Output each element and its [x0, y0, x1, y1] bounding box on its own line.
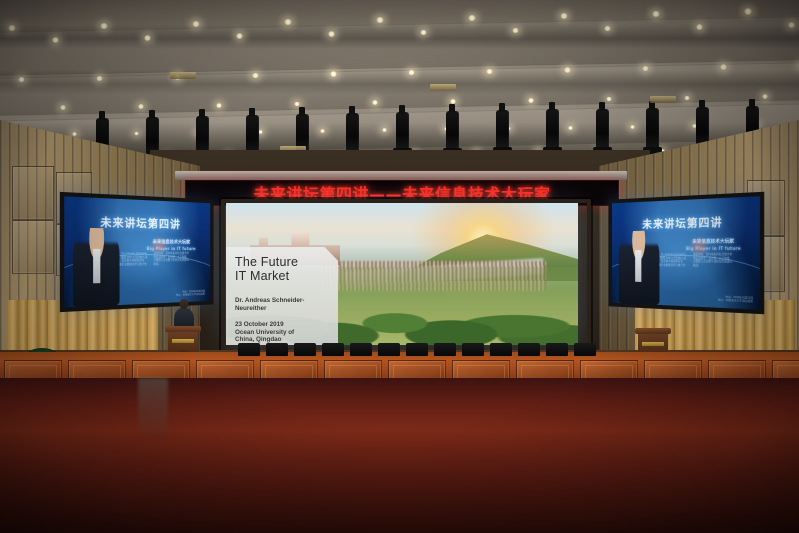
podium-right-top-surface — [635, 328, 671, 334]
ceiling-spotlight — [596, 109, 609, 153]
main-projection-screen: The Future IT Market Dr. Andreas Schneid… — [226, 203, 578, 345]
audience-seating-area — [0, 378, 799, 533]
stage-monitor — [434, 343, 456, 356]
ceiling-downlight — [144, 35, 151, 41]
ceiling-downlight — [236, 33, 243, 39]
poster-speaker-portrait-right — [618, 230, 659, 305]
podium-right-nameplate — [642, 342, 664, 346]
ceiling-truss-fixture — [430, 84, 456, 91]
stage-monitor — [406, 343, 428, 356]
ceiling-downlight — [696, 24, 703, 30]
ceiling-downlight — [320, 129, 325, 133]
stage-monitor — [378, 343, 400, 356]
ceiling-downlight — [376, 17, 384, 23]
ceiling-downlight — [630, 125, 635, 129]
side-screen-right: 未来讲坛第四讲 未来信息技术大玩家 Big Player in IT futur… — [609, 192, 765, 315]
stage-monitor — [574, 343, 596, 356]
slide-title: The Future IT Market — [235, 255, 331, 283]
ceiling-spotlight — [546, 109, 559, 153]
poster-body-right-column-right-screen: 讲座内容：面向未来的信息技术市场发展趋势，云计算、人工智能、大数据与企业数字化转… — [693, 253, 734, 269]
poster-speaker-portrait-left — [72, 228, 119, 308]
slide-title-line-1: The Future — [235, 255, 331, 269]
stage-monitor — [322, 343, 344, 356]
ceiling-downlight — [252, 73, 259, 79]
ceiling-downlight — [564, 67, 571, 73]
ceiling-downlight — [216, 103, 222, 108]
poster-body-right-column-left-screen: 讲座内容：面向未来的信息技术市场发展趋势，云计算、人工智能、大数据与企业数字化转… — [154, 252, 190, 267]
ceiling-downlight — [468, 15, 476, 21]
ceiling-truss-fixture — [650, 96, 676, 103]
ceiling-downlight — [568, 126, 573, 130]
ceiling-downlight — [652, 11, 660, 17]
ceiling-downlight — [192, 21, 200, 27]
side-screen-left: 未来讲坛第四讲 未来信息技术大玩家 Big Player in IT futur… — [60, 192, 214, 312]
slide-venue-line-1: Ocean University of — [235, 329, 335, 337]
led-banner-text: 未来讲坛第四讲——未来信息技术大玩家 — [253, 181, 550, 205]
poster-subtitle-en-left: Big Player in IT future — [139, 245, 202, 251]
ceiling-downlight — [762, 94, 768, 99]
ceiling-downlight — [8, 25, 16, 31]
poster-subtitle-right: 未来信息技术大玩家 Big Player in IT future — [678, 239, 750, 252]
stage-monitor — [350, 343, 372, 356]
ceiling-spotlight — [646, 108, 659, 153]
ceiling-truss-fixture — [170, 72, 196, 79]
ceiling-spotlight — [446, 111, 459, 154]
podium-left-top-surface — [165, 326, 201, 332]
ceiling-downlight — [52, 37, 59, 43]
stage-monitor — [238, 343, 260, 356]
slide-event-meta: 23 October 2019 Ocean University of Chin… — [235, 321, 335, 344]
slide-speaker-line-1: Dr. Andreas Schneider- — [235, 297, 333, 305]
ceiling-downlight — [720, 64, 727, 70]
stage-monitor — [518, 343, 540, 356]
ceiling-spotlight — [396, 112, 409, 154]
ceiling-downlight — [744, 8, 752, 14]
ceiling-downlight — [642, 66, 649, 72]
center-aisle — [138, 378, 168, 438]
slide-speaker-name: Dr. Andreas Schneider- Neureither — [235, 297, 333, 312]
ceiling-downlight — [420, 30, 427, 36]
stage-monitor — [266, 343, 288, 356]
slide-speaker-line-2: Neureither — [235, 305, 333, 313]
ceiling-downlight — [138, 104, 144, 109]
poster-subtitle-left: 未来信息技术大玩家 Big Player in IT future — [139, 239, 202, 251]
stage-monitor — [294, 343, 316, 356]
led-banner-mount-rail — [175, 171, 627, 180]
ceiling-downlight — [560, 13, 568, 19]
ceiling-downlight — [100, 23, 108, 29]
ceiling-downlight — [284, 19, 292, 25]
auditorium-photograph: 未来讲坛第四讲——未来信息技术大玩家 The Future IT Market … — [0, 0, 799, 533]
stage-monitor — [490, 343, 512, 356]
ceiling-downlight — [528, 98, 534, 103]
podium-left-nameplate — [172, 339, 194, 343]
ceiling-spotlight — [496, 110, 509, 153]
left-wall-acoustic-panel-1 — [12, 166, 54, 220]
slide-title-line-2: IT Market — [235, 269, 331, 283]
ceiling-downlight — [450, 99, 456, 104]
slide-date: 23 October 2019 — [235, 321, 335, 329]
poster-subtitle-en-right: Big Player in IT future — [678, 246, 750, 252]
ceiling-downlight — [486, 69, 493, 75]
ceiling-downlight — [330, 71, 337, 77]
ceiling-downlight — [328, 31, 335, 37]
stage-monitor — [546, 343, 568, 356]
ceiling-downlight — [684, 96, 690, 101]
ceiling-downlight — [96, 76, 103, 82]
stage-monitor — [462, 343, 484, 356]
ceiling-downlight — [788, 22, 795, 28]
left-wall-acoustic-panel-2 — [12, 220, 54, 274]
